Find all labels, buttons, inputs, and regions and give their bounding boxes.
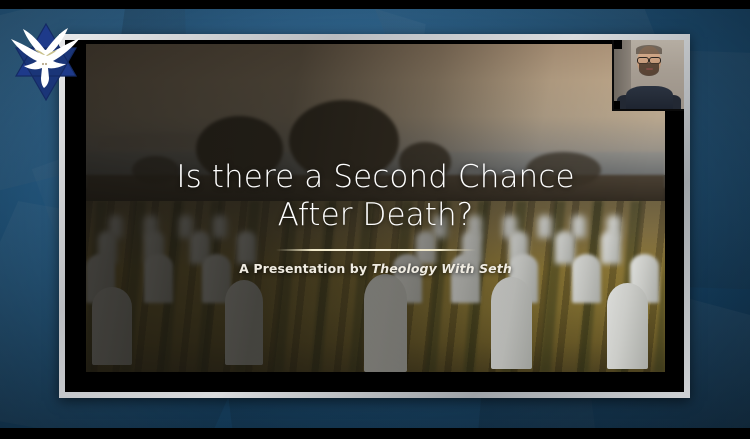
slide-text-block: Is there a Second Chance After Death? A … xyxy=(86,159,665,277)
presenter-beard xyxy=(639,63,659,75)
slide-canvas: Is there a Second Chance After Death? A … xyxy=(65,40,684,392)
slide-subtitle-emphasis: Theology With Seth xyxy=(372,261,512,276)
title-divider-rule xyxy=(276,249,476,251)
presentation-slide-frame: Is there a Second Chance After Death? A … xyxy=(59,34,690,398)
webcam-video-feed xyxy=(614,40,684,109)
presenter-mouth xyxy=(646,68,653,70)
presenter-glasses xyxy=(637,57,661,62)
channel-logo xyxy=(2,16,90,108)
slide-subtitle: A Presentation by Theology With Seth xyxy=(121,261,631,276)
letterbox-bar-top xyxy=(0,0,750,9)
slide-subtitle-prefix: A Presentation by xyxy=(239,261,371,276)
slide-title-line-1: Is there a Second Chance xyxy=(121,159,631,197)
presenter-hair xyxy=(636,45,661,54)
slide-title: Is there a Second Chance After Death? xyxy=(121,159,631,235)
webcam-corner-mask xyxy=(614,101,620,109)
cemetery-photograph: Is there a Second Chance After Death? A … xyxy=(86,44,665,372)
letterbox-bar-bottom xyxy=(0,428,750,439)
slide-title-line-2: After Death? xyxy=(121,197,631,235)
presenter-webcam-overlay[interactable] xyxy=(612,40,684,111)
video-player-frame[interactable]: Is there a Second Chance After Death? A … xyxy=(0,0,750,439)
presenter-torso xyxy=(626,86,674,109)
webcam-corner-mask xyxy=(614,40,622,49)
